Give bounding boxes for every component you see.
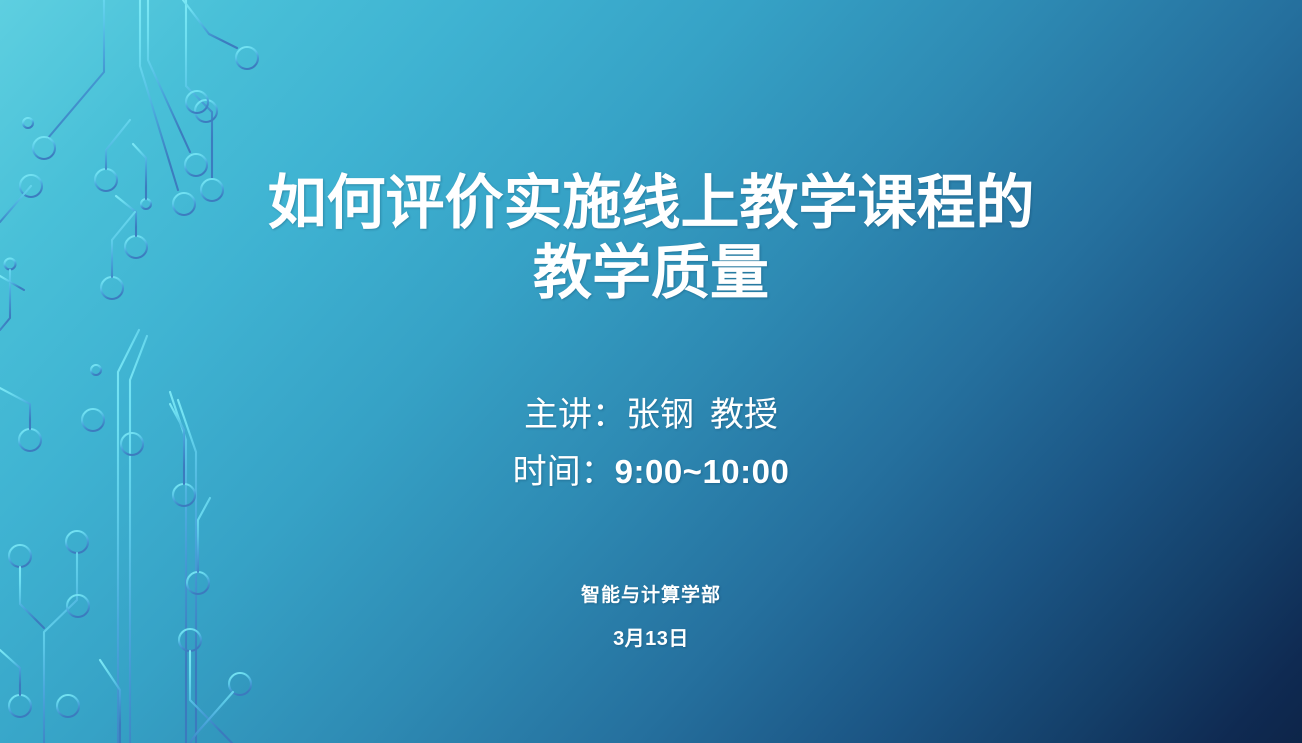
speaker-rank: 教授 — [710, 397, 778, 434]
title-line-2: 教学质量 — [0, 238, 1302, 308]
footer-organization: 智能与计算学部 — [0, 583, 1302, 609]
presentation-slide: 如何评价实施线上教学课程的 教学质量 主讲：张钢教授 时间：9:00~10:00… — [0, 0, 1302, 743]
slide-subtitle: 主讲：张钢教授 时间：9:00~10:00 — [0, 388, 1302, 501]
time-label: 时间： — [513, 454, 615, 491]
title-line-1: 如何评价实施线上教学课程的 — [0, 168, 1302, 238]
slide-content: 如何评价实施线上教学课程的 教学质量 主讲：张钢教授 时间：9:00~10:00… — [0, 0, 1302, 743]
time-value: 9:00~10:00 — [615, 453, 790, 490]
time-line: 时间：9:00~10:00 — [0, 444, 1302, 501]
footer-date: 3月13日 — [0, 626, 1302, 652]
speaker-label: 主讲： — [524, 397, 626, 434]
slide-footer: 智能与计算学部 3月13日 — [0, 583, 1302, 652]
speaker-line: 主讲：张钢教授 — [0, 388, 1302, 444]
speaker-name: 张钢 — [626, 397, 694, 434]
slide-title: 如何评价实施线上教学课程的 教学质量 — [0, 168, 1302, 308]
